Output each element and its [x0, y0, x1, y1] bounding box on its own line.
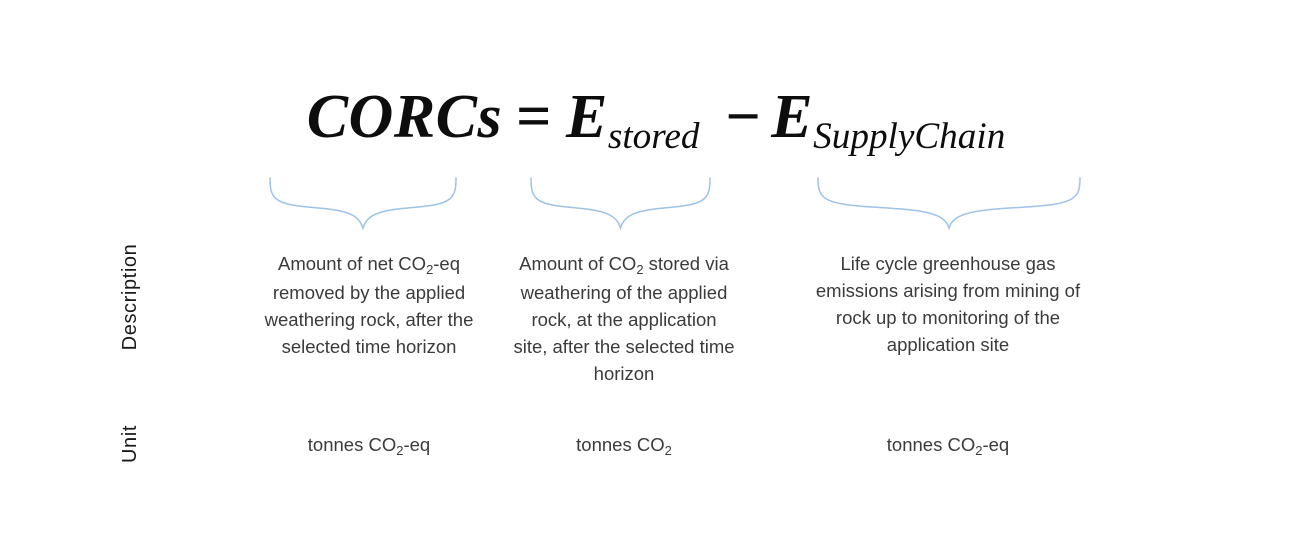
equation-term-e-supplychain-subscript: SupplyChain	[813, 116, 1005, 157]
unit-cell-e-stored: tonnes CO2	[512, 432, 736, 460]
unit-subscript: 2	[665, 443, 672, 458]
description-text-before: Amount of net CO	[278, 253, 426, 274]
description-subscript: 2	[636, 262, 643, 277]
description-cell-e-supplychain: Life cycle greenhouse gas emissions aris…	[812, 250, 1084, 360]
equation-term-e-supplychain-base: E	[771, 83, 813, 151]
equation-equals-sign: =	[502, 86, 566, 148]
description-text-before: Life cycle greenhouse gas emissions aris…	[816, 253, 1080, 355]
diagram-canvas: CORCs=Estored−ESupplyChain Description U…	[0, 0, 1312, 538]
unit-text-after: -eq	[403, 434, 430, 455]
unit-cell-corcs: tonnes CO2-eq	[255, 432, 483, 460]
equation-term-e-stored-subscript: stored	[608, 116, 700, 157]
unit-text-after: -eq	[982, 434, 1009, 455]
curly-brace-down-icon-e-supplychain	[816, 176, 1082, 230]
equation-minus-sign: −	[699, 86, 771, 148]
equation-term-e-supplychain: ESupplyChain	[771, 86, 1005, 148]
row-label-description: Description	[116, 227, 144, 367]
unit-subscript: 2	[975, 443, 982, 458]
unit-cell-e-supplychain: tonnes CO2-eq	[812, 432, 1084, 460]
unit-subscript: 2	[396, 443, 403, 458]
curly-brace-down-icon-e-stored	[529, 176, 712, 230]
unit-text-before: tonnes CO	[576, 434, 664, 455]
description-text-before: Amount of CO	[519, 253, 636, 274]
equation-term-e-stored: Estored	[566, 86, 699, 148]
curly-brace-down-icon-corcs	[268, 176, 458, 230]
description-cell-e-stored: Amount of CO2 stored via weathering of t…	[512, 250, 736, 387]
unit-text-before: tonnes CO	[308, 434, 396, 455]
equation-term-e-stored-base: E	[566, 83, 608, 151]
unit-text-before: tonnes CO	[887, 434, 975, 455]
description-cell-corcs: Amount of net CO2-eq removed by the appl…	[255, 250, 483, 360]
equation-formula: CORCs=Estored−ESupplyChain	[0, 86, 1312, 148]
equation-left-term: CORCs	[307, 86, 502, 148]
description-subscript: 2	[426, 262, 433, 277]
row-label-unit: Unit	[116, 394, 144, 494]
